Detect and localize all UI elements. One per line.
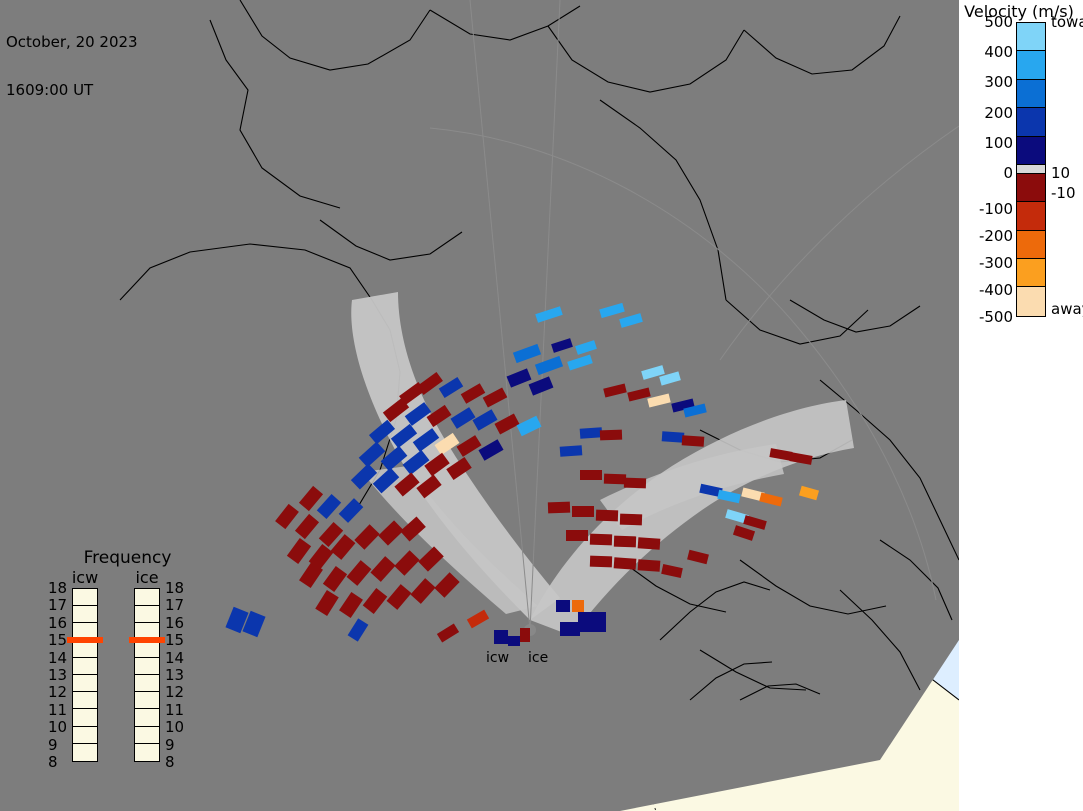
frequency-bar-cell (73, 589, 97, 606)
velocity-cell (661, 564, 683, 578)
colorbar-segment (1017, 108, 1045, 136)
velocity-cell (789, 452, 812, 465)
colorbar-segment (1017, 80, 1045, 108)
colorbar-panel: Velocity (m/s) 5004003002001000-100-200-… (959, 0, 1083, 811)
velocity-cell (483, 387, 508, 407)
velocity-cell (620, 514, 642, 526)
velocity-cell (529, 376, 554, 395)
velocity-cell (733, 525, 755, 541)
frequency-tick-label: 18 (48, 579, 67, 597)
colorbar-toward-label: toward (1051, 13, 1083, 31)
frequency-legend: Frequency icw ice 18171615141312111098 1… (55, 548, 200, 788)
velocity-cell (295, 514, 319, 539)
frequency-column-label-icw: icw (63, 568, 107, 587)
velocity-cell (424, 453, 449, 476)
velocity-cell (472, 409, 497, 430)
velocity-cell (351, 463, 377, 489)
frequency-bar-cell (135, 606, 159, 623)
colorbar-tick-label: 100 (984, 134, 1013, 152)
velocity-cell (572, 600, 584, 612)
frequency-tick-label: 9 (165, 736, 175, 754)
velocity-cell (575, 340, 597, 355)
velocity-cell (551, 338, 573, 353)
map-canvas[interactable]: October, 20 2023 1609:00 UT icw ice Freq… (0, 0, 959, 811)
colorbar-segment (1017, 23, 1045, 51)
velocity-cell (347, 560, 372, 586)
frequency-bar-cell (135, 709, 159, 726)
velocity-cell (437, 623, 459, 642)
frequency-column-label-ice: ice (125, 568, 169, 587)
colorbar-tick-label: -500 (979, 308, 1013, 326)
velocity-cell (461, 383, 486, 404)
colorbar-tick-label: 500 (984, 13, 1013, 31)
frequency-tick-label: 11 (48, 701, 67, 719)
velocity-cell (394, 550, 419, 576)
frequency-bar-cell (73, 709, 97, 726)
velocity-cell (566, 530, 588, 541)
frequency-bar-cell (73, 658, 97, 675)
velocity-cell (339, 498, 364, 523)
frequency-bar-cell (73, 692, 97, 709)
frequency-tick-label: 13 (48, 666, 67, 684)
velocity-cell (387, 584, 412, 610)
colorbar-segment (1017, 137, 1045, 165)
velocity-cell (410, 578, 435, 604)
velocity-cell (604, 474, 626, 485)
frequency-tick-label: 16 (48, 614, 67, 632)
velocity-cell (456, 435, 481, 457)
velocity-cell (799, 486, 819, 501)
frequency-tick-label: 17 (48, 596, 67, 614)
velocity-cell (400, 516, 426, 541)
frequency-tick-label: 13 (165, 666, 184, 684)
velocity-cell (317, 494, 341, 519)
colorbar-segment (1017, 231, 1045, 259)
velocity-cell (370, 556, 395, 582)
frequency-tick-label: 18 (165, 579, 184, 597)
frequency-tick-label: 10 (165, 718, 184, 736)
timestamp: October, 20 2023 1609:00 UT (6, 2, 138, 130)
velocity-cell (478, 439, 503, 460)
velocity-cell (369, 420, 395, 445)
frequency-bar-cell (73, 675, 97, 692)
frequency-bar-icw[interactable] (72, 588, 98, 762)
velocity-cell (580, 427, 603, 439)
velocity-cell (315, 590, 339, 616)
colorbar-tick-label: -300 (979, 254, 1013, 272)
velocity-cell (535, 306, 563, 323)
velocity-cell (560, 445, 583, 457)
frequency-marker (129, 637, 165, 643)
frequency-bar-cell (135, 589, 159, 606)
velocity-cell (590, 534, 612, 546)
frequency-bar-cell (73, 744, 97, 761)
velocity-cell (600, 430, 622, 441)
colorbar-segment (1017, 174, 1045, 202)
velocity-cell (363, 588, 388, 614)
superdarn-fan-plot: October, 20 2023 1609:00 UT icw ice Freq… (0, 0, 1083, 811)
velocity-cell (624, 478, 646, 489)
velocity-cell (638, 559, 661, 572)
colorbar-tick-label: -200 (979, 227, 1013, 245)
velocity-cell (567, 355, 593, 371)
frequency-tick-label: 12 (48, 683, 67, 701)
colorbar-tick-label: 400 (984, 43, 1013, 61)
colorbar-segment (1017, 51, 1045, 79)
velocity-cell (354, 524, 379, 550)
colorbar-segment (1017, 202, 1045, 230)
velocity-cell (508, 636, 520, 646)
colorbar-tick-label: -400 (979, 281, 1013, 299)
colorbar-tick-label: 0 (1003, 164, 1013, 182)
frequency-bar-cell (135, 744, 159, 761)
velocity-cell (434, 572, 459, 598)
velocity-cell (682, 435, 705, 447)
velocity-cell (599, 303, 625, 318)
velocity-cell (418, 546, 444, 571)
velocity-cell (359, 442, 386, 468)
velocity-cell (614, 557, 637, 570)
frequency-tick-label: 16 (165, 614, 184, 632)
velocity-cell (417, 372, 443, 395)
frequency-tick-label: 8 (165, 753, 175, 771)
frequency-bar-cell (73, 727, 97, 744)
velocity-cell (513, 344, 541, 363)
colorbar-positive-inner-label: 10 (1051, 164, 1070, 182)
velocity-cell (535, 356, 563, 375)
frequency-bar-cell (73, 606, 97, 623)
velocity-cell (687, 550, 709, 565)
velocity-cell (596, 510, 618, 522)
velocity-cell (450, 407, 475, 429)
velocity-cell (580, 470, 602, 480)
velocity-cell (405, 402, 431, 426)
frequency-tick-label: 14 (165, 649, 184, 667)
velocity-cell (717, 490, 740, 503)
colorbar-segment (1017, 287, 1045, 315)
velocity-cell (413, 428, 439, 452)
frequency-bar-cell (135, 675, 159, 692)
velocity-cell (275, 504, 299, 529)
velocity-cell (548, 502, 570, 514)
frequency-tick-label: 10 (48, 718, 67, 736)
velocity-cell (416, 475, 441, 499)
velocity-cell (323, 566, 347, 592)
velocity-cell (572, 506, 594, 517)
frequency-tick-label: 11 (165, 701, 184, 719)
colorbar-segment (1017, 165, 1045, 174)
frequency-bar-ice[interactable] (134, 588, 160, 762)
colorbar-negative-inner-label: -10 (1051, 184, 1076, 202)
velocity-cell (590, 556, 612, 568)
velocity-cell (578, 612, 606, 632)
colorbar-tick-label: -100 (979, 200, 1013, 218)
colorbar-tick-label: 300 (984, 73, 1013, 91)
velocity-cell (467, 610, 489, 629)
velocity-cell (494, 414, 519, 435)
frequency-tick-label: 17 (165, 596, 184, 614)
velocity-cell (446, 457, 472, 480)
frequency-marker (67, 637, 103, 643)
frequency-bar-cell (135, 727, 159, 744)
frequency-tick-label: 9 (48, 736, 58, 754)
frequency-tick-label: 15 (48, 631, 67, 649)
frequency-tick-label: 8 (48, 753, 58, 771)
velocity-cell (520, 628, 530, 642)
velocity-cell (614, 536, 636, 548)
velocity-cell (603, 383, 627, 397)
frequency-legend-title: Frequency (55, 548, 200, 568)
velocity-cell (378, 520, 404, 545)
velocity-cell (339, 592, 363, 618)
frequency-bar-cell (135, 658, 159, 675)
colorbar-tick-label: 200 (984, 104, 1013, 122)
velocity-cell (516, 416, 541, 436)
velocity-cell (494, 630, 508, 644)
frequency-bar-cell (135, 692, 159, 709)
velocity-cell (759, 492, 783, 506)
frequency-tick-label: 12 (165, 683, 184, 701)
colorbar-strip[interactable] (1016, 22, 1046, 317)
timestamp-date: October, 20 2023 (6, 34, 138, 50)
colorbar-away-label: away (1051, 300, 1083, 318)
velocity-cell (287, 538, 311, 564)
velocity-cell (638, 537, 661, 550)
site-label-ice: ice (528, 650, 548, 666)
velocity-cell (619, 313, 643, 328)
velocity-cell (427, 405, 452, 427)
colorbar-segment (1017, 259, 1045, 287)
timestamp-time: 1609:00 UT (6, 82, 138, 98)
velocity-cell (348, 618, 369, 641)
velocity-cell (403, 450, 430, 475)
site-label-icw: icw (486, 650, 509, 666)
frequency-tick-label: 14 (48, 649, 67, 667)
frequency-tick-label: 15 (165, 631, 184, 649)
velocity-cell (391, 424, 417, 448)
velocity-cell (560, 622, 580, 636)
velocity-cell (556, 600, 570, 612)
